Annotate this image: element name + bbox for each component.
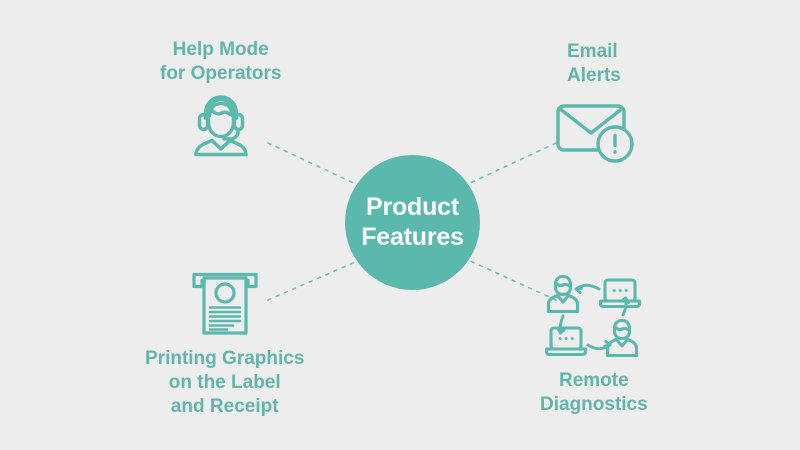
printing-graphics-label-line-3: and Receipt xyxy=(171,395,279,419)
help-mode-label-line-2: for Operators xyxy=(160,62,281,86)
connector-email-alerts xyxy=(466,143,556,185)
feature-node-printing-graphics: Printing Graphics on the Label and Recei… xyxy=(145,268,304,418)
connector-help-mode xyxy=(268,143,360,186)
product-features-hub: Product Features xyxy=(345,155,480,290)
printer-document-icon xyxy=(185,268,265,343)
remote-diagnostics-label: Remote Diagnostics xyxy=(540,369,648,417)
hub-title-line-2: Features xyxy=(361,223,464,253)
help-mode-label-line-1: Help Mode xyxy=(173,38,269,62)
email-alerts-label-line-2: Alerts xyxy=(567,64,621,88)
remote-diagnostics-label-line-2: Diagnostics xyxy=(540,393,648,417)
hub-title-line-1: Product xyxy=(366,193,459,223)
feature-node-email-alerts: Email Alerts xyxy=(553,40,641,171)
feature-node-help-mode: Help Mode for Operators xyxy=(160,38,281,163)
remote-network-icon xyxy=(542,270,646,365)
diagram-canvas: Product Features Help Mode for Operators xyxy=(0,0,800,450)
email-alerts-label: Email Alerts xyxy=(553,40,621,88)
printing-graphics-label-line-2: on the Label xyxy=(169,371,281,395)
feature-node-remote-diagnostics: Remote Diagnostics xyxy=(540,270,648,417)
headset-operator-icon xyxy=(181,92,261,163)
remote-diagnostics-label-line-1: Remote xyxy=(559,369,629,393)
printing-graphics-label: Printing Graphics on the Label and Recei… xyxy=(145,347,304,418)
envelope-alert-icon xyxy=(553,94,641,171)
email-alerts-label-line-1: Email xyxy=(567,40,618,64)
help-mode-label: Help Mode for Operators xyxy=(160,38,281,86)
printing-graphics-label-line-1: Printing Graphics xyxy=(145,347,304,371)
